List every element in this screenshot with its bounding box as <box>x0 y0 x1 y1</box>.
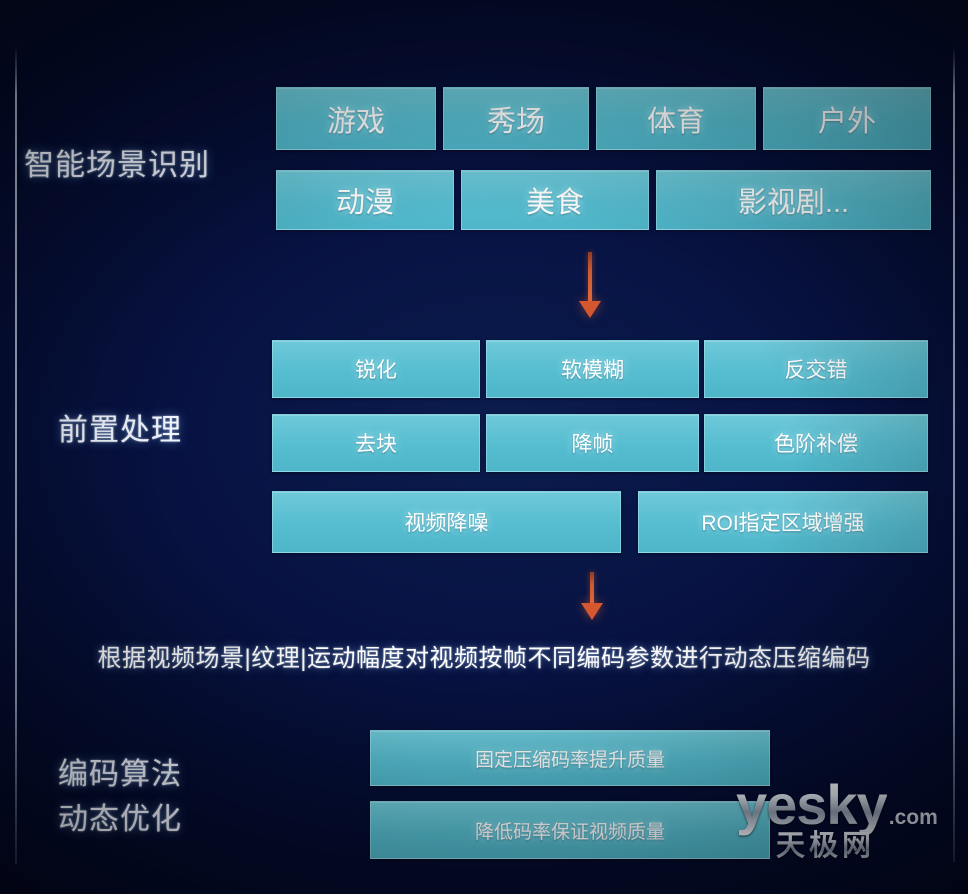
chip-pre-deinterlace[interactable]: 反交错 <box>704 340 928 398</box>
section-label-preprocessing: 前置处理 <box>58 405 182 449</box>
left-guide-line <box>15 46 17 864</box>
watermark-chinese-text: 天极网 <box>776 822 938 864</box>
arrow-shaft <box>588 252 592 302</box>
chip-scene-film-tv[interactable]: 影视剧... <box>656 170 931 230</box>
slide-canvas: 智能场景识别 游戏 秀场 体育 户外 动漫 美食 影视剧... 前置处理 锐化 … <box>0 0 968 894</box>
chip-scene-game[interactable]: 游戏 <box>276 87 436 150</box>
arrow-scene-to-preprocess <box>575 252 605 318</box>
arrow-preprocess-to-encode <box>577 572 607 620</box>
chip-scene-anime[interactable]: 动漫 <box>276 170 454 230</box>
watermark-domain-suffix: .com <box>889 806 938 829</box>
section-label-encoding-optimization: 编码算法 动态优化 <box>58 752 182 842</box>
chip-pre-soft-blur[interactable]: 软模糊 <box>486 340 699 398</box>
chip-pre-deblock[interactable]: 去块 <box>272 414 480 472</box>
chip-enc-lower-bitrate-quality[interactable]: 降低码率保证视频质量 <box>370 801 770 859</box>
chip-enc-fixed-bitrate-quality[interactable]: 固定压缩码率提升质量 <box>370 730 770 786</box>
chip-scene-showroom[interactable]: 秀场 <box>443 87 589 150</box>
chip-pre-video-denoise[interactable]: 视频降噪 <box>272 491 621 553</box>
chip-scene-outdoor[interactable]: 户外 <box>763 87 931 150</box>
chip-pre-banding-compensation[interactable]: 色阶补偿 <box>704 414 928 472</box>
arrow-head <box>581 603 603 620</box>
arrow-head <box>579 301 601 318</box>
chip-pre-frame-drop[interactable]: 降帧 <box>486 414 699 472</box>
chip-pre-sharpen[interactable]: 锐化 <box>272 340 480 398</box>
arrow-shaft <box>590 572 594 606</box>
section-label-scene-recognition: 智能场景识别 <box>24 140 210 184</box>
chip-scene-sports[interactable]: 体育 <box>596 87 756 150</box>
pipeline-description-text: 根据视频场景|纹理|运动幅度对视频按帧不同编码参数进行动态压缩编码 <box>0 638 968 673</box>
chip-pre-roi-enhance[interactable]: ROI指定区域增强 <box>638 491 928 553</box>
right-guide-line <box>953 46 955 862</box>
chip-scene-food[interactable]: 美食 <box>461 170 649 230</box>
